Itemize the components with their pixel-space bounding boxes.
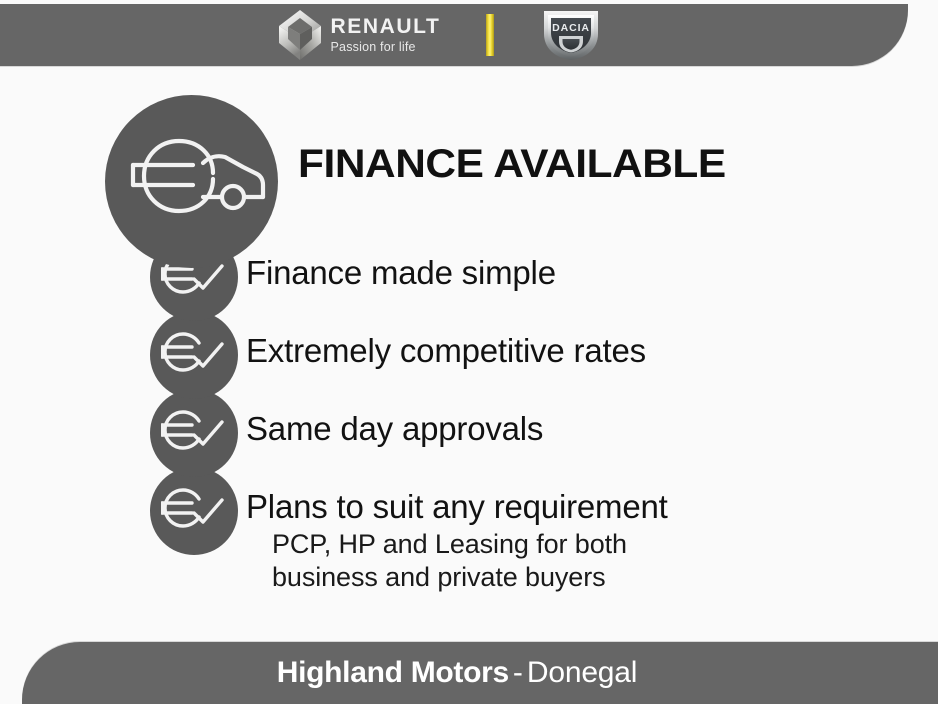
brand-divider-bar: [486, 14, 494, 56]
bullet-label-0: Finance made simple: [246, 254, 556, 292]
renault-tagline: Passion for life: [331, 41, 441, 54]
bullet-icon-circle-3: [150, 467, 238, 555]
renault-diamond-icon: [278, 9, 322, 61]
brand-logos-row: RENAULT Passion for life: [0, 4, 880, 66]
renault-wordmark: RENAULT: [331, 16, 441, 37]
dealer-location: Donegal: [527, 656, 637, 689]
dacia-shield-icon: DACIA: [540, 8, 602, 62]
bullet-subtext-line-2: business and private buyers: [272, 561, 627, 594]
bullet-icon-circle-2: [150, 389, 238, 477]
renault-logo-lockup: RENAULT Passion for life: [278, 9, 441, 61]
euro-check-icon: [161, 487, 227, 535]
euro-check-icon: [161, 409, 227, 457]
hero-icon-circle: [105, 95, 278, 268]
poster-canvas: RENAULT Passion for life: [0, 0, 938, 704]
brand-header-bar: RENAULT Passion for life: [0, 4, 908, 66]
bullet-label-2: Same day approvals: [246, 410, 543, 448]
dealer-name: Highland Motors: [277, 656, 509, 689]
euro-car-finance-icon: [117, 127, 267, 237]
svg-text:DACIA: DACIA: [553, 22, 591, 34]
bullet-subtext: PCP, HP and Leasing for both business an…: [272, 528, 627, 594]
euro-check-icon: [161, 331, 227, 379]
renault-text-block: RENAULT Passion for life: [331, 16, 441, 54]
bullet-icon-circle-1: [150, 311, 238, 399]
bullet-label-3: Plans to suit any requirement: [246, 488, 668, 526]
main-content: FINANCE AVAILABLE Finance made simple Ex…: [0, 66, 938, 642]
bullet-label-1: Extremely competitive rates: [246, 332, 646, 370]
dealer-footer-text: Highland Motors-Donegal: [12, 656, 902, 690]
dealer-separator: -: [509, 656, 527, 689]
dealer-footer-bar: Highland Motors-Donegal: [22, 642, 938, 704]
page-title: FINANCE AVAILABLE: [298, 142, 726, 187]
bullet-subtext-line-1: PCP, HP and Leasing for both: [272, 528, 627, 561]
